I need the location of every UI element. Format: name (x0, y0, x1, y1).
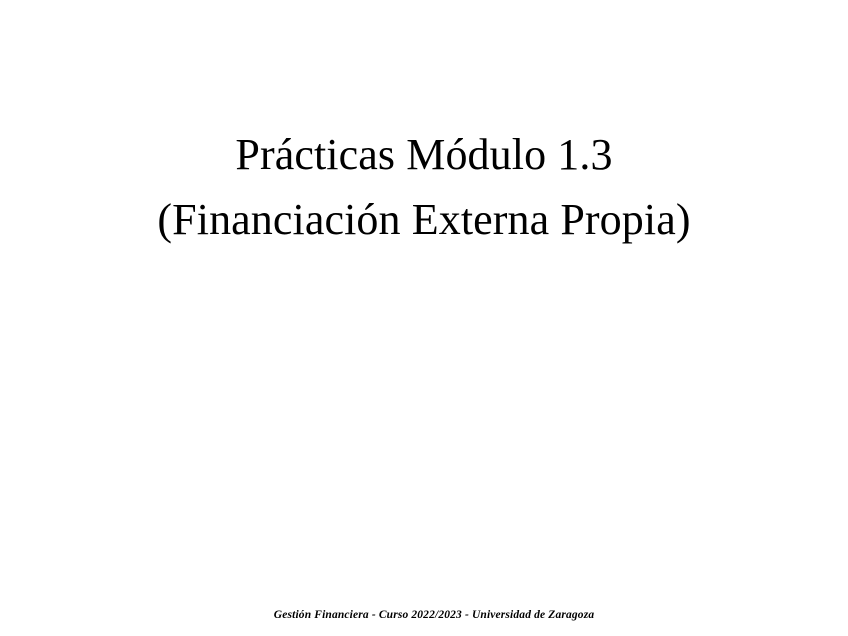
slide-title-line-1: Prácticas Módulo 1.3 (0, 122, 848, 187)
slide-footer: Gestión Financiera - Curso 2022/2023 - U… (0, 605, 848, 623)
slide-footer-text: Gestión Financiera - Curso 2022/2023 - U… (274, 609, 594, 621)
slide-title: Prácticas Módulo 1.3 (Financiación Exter… (0, 122, 848, 252)
slide-canvas: Prácticas Módulo 1.3 (Financiación Exter… (0, 0, 848, 636)
slide-title-line-2: (Financiación Externa Propia) (0, 187, 848, 252)
